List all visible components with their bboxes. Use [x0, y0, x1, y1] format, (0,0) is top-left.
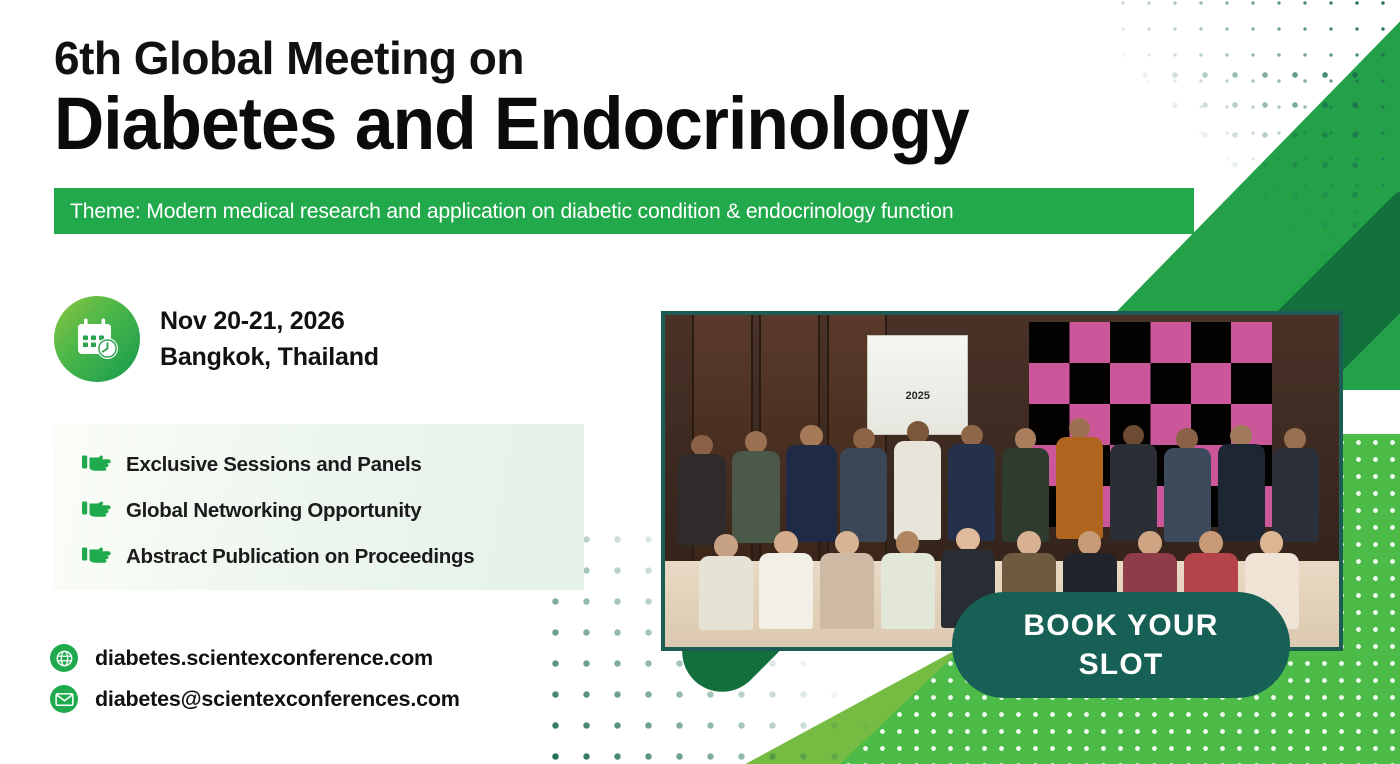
- website-text: diabetes.scientexconference.com: [95, 646, 433, 671]
- book-your-slot-button[interactable]: BOOK YOUR SLOT: [952, 592, 1290, 698]
- cta-line-2: SLOT: [1079, 645, 1164, 684]
- feature-label: Global Networking Opportunity: [126, 499, 421, 523]
- email-link[interactable]: diabetes@scientexconferences.com: [50, 685, 460, 713]
- event-date: Nov 20-21, 2026: [160, 303, 379, 339]
- pointing-hand-icon: [82, 496, 112, 525]
- event-kicker: 6th Global Meeting on: [54, 34, 1027, 82]
- theme-bar: Theme: Modern medical research and appli…: [54, 188, 1194, 234]
- date-venue-block: Nov 20-21, 2026 Bangkok, Thailand: [54, 296, 379, 382]
- cta-line-1: BOOK YOUR: [1023, 606, 1218, 645]
- pointing-hand-icon: [82, 450, 112, 479]
- feature-label: Abstract Publication on Proceedings: [126, 545, 474, 569]
- feature-item: Abstract Publication on Proceedings: [82, 542, 584, 571]
- pointing-hand-icon: [82, 542, 112, 571]
- date-venue-text: Nov 20-21, 2026 Bangkok, Thailand: [160, 303, 379, 376]
- conference-banner: 6th Global Meeting on Diabetes and Endoc…: [0, 0, 1400, 764]
- calendar-clock-icon: [54, 296, 140, 382]
- event-headline: Diabetes and Endocrinology: [54, 86, 969, 161]
- contact-block: diabetes.scientexconference.com diabetes…: [50, 644, 460, 726]
- website-link[interactable]: diabetes.scientexconference.com: [50, 644, 460, 672]
- title-block: 6th Global Meeting on Diabetes and Endoc…: [54, 34, 1027, 162]
- theme-text: Theme: Modern medical research and appli…: [70, 199, 953, 224]
- globe-icon: [50, 644, 78, 672]
- feature-label: Exclusive Sessions and Panels: [126, 453, 422, 477]
- event-location: Bangkok, Thailand: [160, 339, 379, 375]
- envelope-icon: [50, 685, 78, 713]
- email-text: diabetes@scientexconferences.com: [95, 687, 460, 712]
- feature-item: Exclusive Sessions and Panels: [82, 450, 584, 479]
- top-right-halftone-dots-small: [1110, 0, 1400, 290]
- features-panel: Exclusive Sessions and Panels Global Net…: [54, 424, 584, 590]
- feature-item: Global Networking Opportunity: [82, 496, 584, 525]
- top-right-halftone-dots-large: [1130, 60, 1360, 290]
